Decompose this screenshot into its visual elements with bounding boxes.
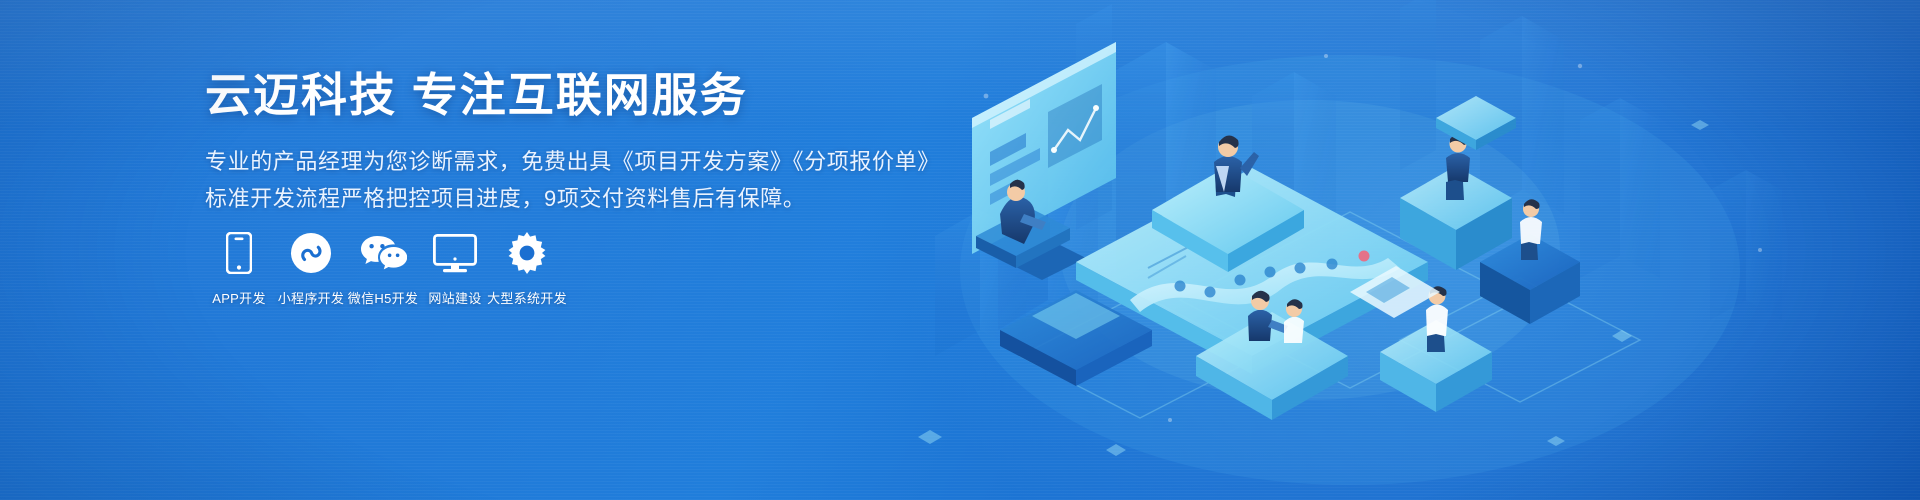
hero-text-block: 云迈科技 专注互联网服务 专业的产品经理为您诊断需求，免费出具《项目开发方案》《… (205, 70, 965, 218)
mini-program-icon (290, 228, 332, 274)
subtitle-line-2: 标准开发流程严格把控项目进度，9项交付资料售后有保障。 (205, 180, 965, 218)
service-label: 小程序开发 (278, 288, 345, 307)
service-label: 网站建设 (428, 288, 481, 307)
hero-subtitle: 专业的产品经理为您诊断需求，免费出具《项目开发方案》《分项报价单》 标准开发流程… (205, 143, 965, 219)
service-item-wechat-h5[interactable]: 微信H5开发 (347, 228, 419, 307)
mobile-phone-icon (226, 228, 252, 274)
wechat-icon (359, 228, 407, 274)
service-item-website[interactable]: 网站建设 (419, 228, 491, 307)
service-item-app[interactable]: APP开发 (203, 228, 275, 307)
service-list: APP开发 小程序开发 微信 (203, 228, 563, 307)
service-label: 大型系统开发 (487, 288, 567, 307)
service-item-large-system[interactable]: 大型系统开发 (491, 228, 563, 307)
monitor-icon (433, 228, 477, 274)
service-item-mini-program[interactable]: 小程序开发 (275, 228, 347, 307)
gear-icon (506, 228, 548, 274)
service-label: 微信H5开发 (348, 288, 418, 307)
isometric-tech-team-illustration (880, 0, 1920, 500)
page-title: 云迈科技 专注互联网服务 (205, 70, 965, 121)
hero-banner: 云迈科技 专注互联网服务 专业的产品经理为您诊断需求，免费出具《项目开发方案》《… (0, 0, 1920, 500)
subtitle-line-1: 专业的产品经理为您诊断需求，免费出具《项目开发方案》《分项报价单》 (205, 143, 965, 181)
service-label: APP开发 (212, 288, 266, 307)
